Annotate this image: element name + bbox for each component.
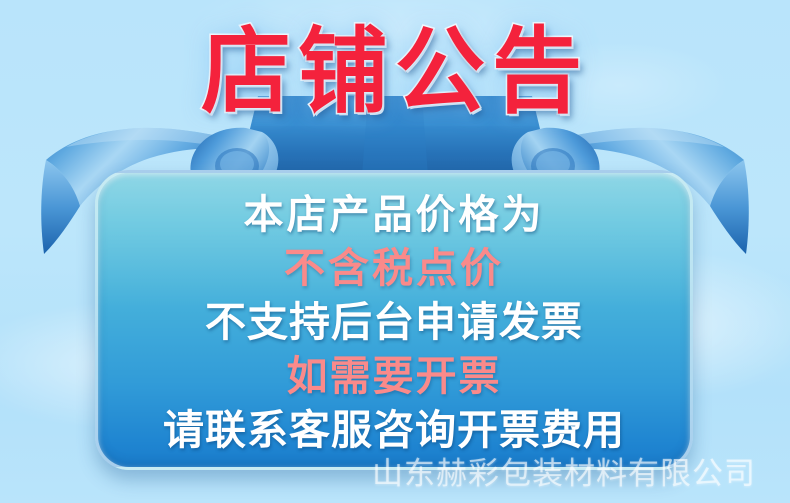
announcement-card: 本店产品价格为 不含税点价 不支持后台申请发票 如需要开票 请联系客服咨询开票费… <box>95 170 693 470</box>
announcement-line-1: 本店产品价格为 <box>110 195 678 235</box>
banner-title-container: 店铺公告 <box>0 28 790 118</box>
announcement-text-block: 本店产品价格为 不含税点价 不支持后台申请发票 如需要开票 请联系客服咨询开票费… <box>98 173 690 451</box>
company-watermark: 山东赫彩包装材料有限公司 <box>372 448 756 493</box>
announcement-line-4: 如需要开票 <box>110 356 678 397</box>
announcement-line-2: 不含税点价 <box>110 248 678 289</box>
announcement-banner: 店铺公告 本店产品价格为 不含税点价 不支持后台申请发票 如需要开票 请联系客服… <box>0 0 790 503</box>
banner-title: 店铺公告 <box>201 26 589 120</box>
announcement-line-5: 请联系客服咨询开票费用 <box>110 410 678 451</box>
announcement-line-3: 不支持后台申请发票 <box>110 302 678 343</box>
